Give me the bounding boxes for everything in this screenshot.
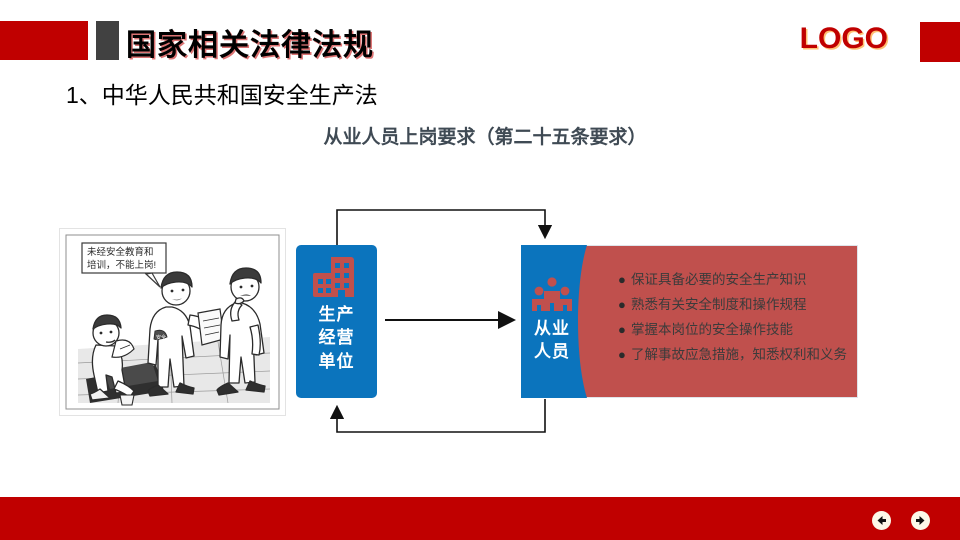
logo-red-block	[920, 22, 960, 62]
bullet-dot-icon: ●	[618, 319, 631, 341]
logo-text: LOGO	[800, 22, 888, 56]
list-item-label: 了解事故应急措施，知悉权利和义务	[631, 344, 847, 366]
bullet-dot-icon: ●	[618, 294, 631, 316]
cartoon-illustration: 未经安全教育和 培训，不能上岗!	[59, 228, 286, 416]
list-item: ● 熟悉有关安全制度和操作规程	[618, 294, 850, 316]
bullet-dot-icon: ●	[618, 269, 631, 291]
flow-box-employee-label: 从业 人员	[521, 317, 583, 364]
svg-text:安全: 安全	[156, 334, 166, 341]
cartoon-svg: 未经安全教育和 培训，不能上岗!	[60, 229, 285, 415]
list-item-label: 熟悉有关安全制度和操作规程	[631, 294, 807, 316]
slide-canvas: 国家相关法律法规 LOGO 1、中华人民共和国安全生产法 从业人员上岗要求（第二…	[0, 0, 960, 540]
building-icon	[296, 255, 377, 302]
bullet-dot-icon: ●	[618, 344, 631, 366]
arrow-right-icon	[915, 515, 926, 526]
svg-text:未经安全教育和: 未经安全教育和	[87, 246, 154, 258]
flow-group-employee: 从业 人员 ● 保证具备必要的安全生产知识 ● 熟悉有关安全制度和操作规程 ● …	[521, 245, 858, 398]
arrow-left-icon	[876, 515, 887, 526]
list-item-label: 保证具备必要的安全生产知识	[631, 269, 807, 291]
header-red-accent-block	[0, 21, 88, 60]
label-line-2: 人员	[521, 340, 583, 363]
list-item: ● 保证具备必要的安全生产知识	[618, 269, 850, 291]
next-slide-button[interactable]	[911, 511, 930, 530]
flow-box-enterprise-label: 生产 经营 单位	[296, 303, 377, 373]
list-item: ● 了解事故应急措施，知悉权利和义务	[618, 344, 850, 366]
label-line-1: 从业	[521, 317, 583, 340]
label-line-2: 经营	[296, 326, 377, 349]
connector-bottom	[337, 399, 545, 432]
label-line-1: 生产	[296, 303, 377, 326]
footer-bar	[0, 497, 960, 540]
prev-slide-button[interactable]	[872, 511, 891, 530]
page-title: 国家相关法律法规	[126, 20, 374, 64]
list-item: ● 掌握本岗位的安全操作技能	[618, 319, 850, 341]
header-gray-accent-block	[96, 21, 119, 60]
slide-subtitle: 从业人员上岗要求（第二十五条要求）	[0, 122, 960, 149]
people-group-icon	[521, 277, 583, 316]
connector-top	[337, 210, 545, 245]
flow-box-enterprise[interactable]: 生产 经营 单位	[296, 245, 377, 398]
svg-text:培训，不能上岗!: 培训，不能上岗!	[87, 259, 156, 271]
label-line-3: 单位	[296, 350, 377, 373]
list-item-label: 掌握本岗位的安全操作技能	[631, 319, 793, 341]
requirements-list: ● 保证具备必要的安全生产知识 ● 熟悉有关安全制度和操作规程 ● 掌握本岗位的…	[618, 269, 850, 369]
section-number-heading: 1、中华人民共和国安全生产法	[66, 76, 378, 110]
